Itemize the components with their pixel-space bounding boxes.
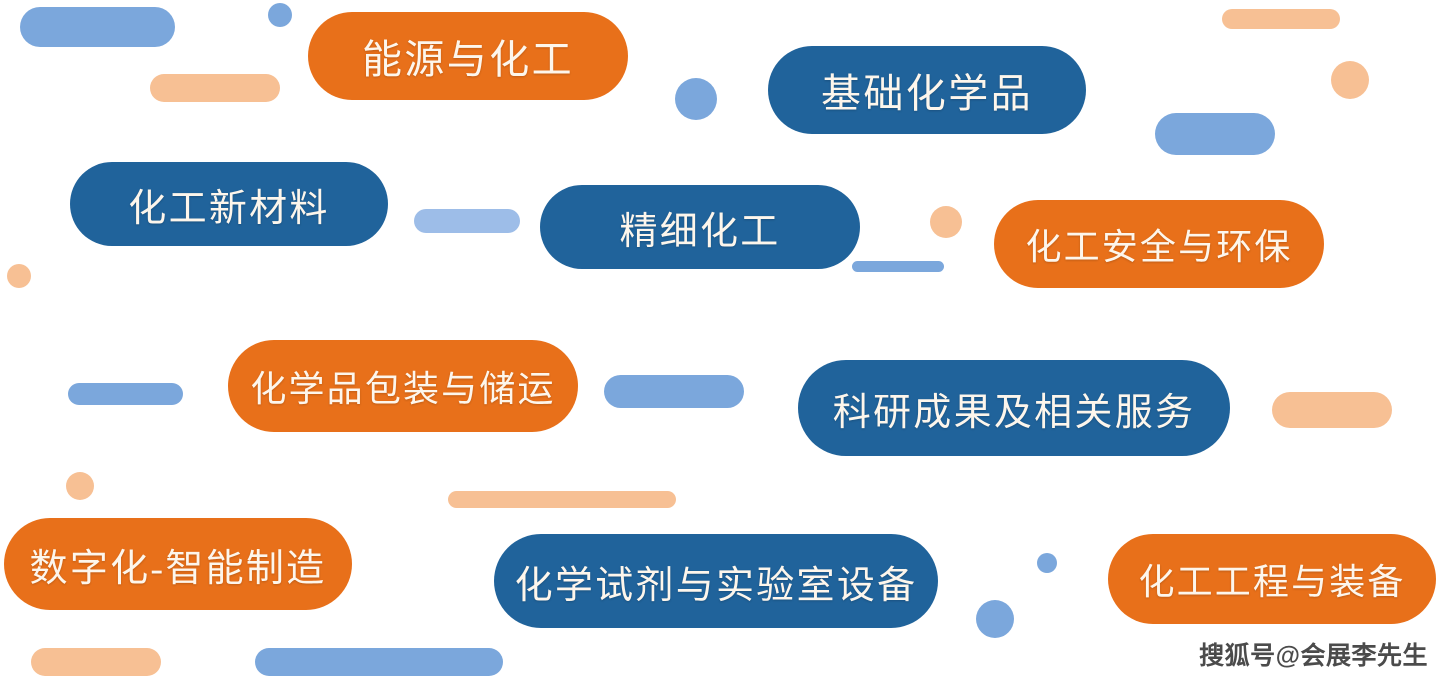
category-pill[interactable]: 数字化-智能制造	[4, 518, 352, 610]
category-pill[interactable]: 化工工程与装备	[1108, 534, 1436, 624]
category-pill-label: 科研成果及相关服务	[833, 381, 1196, 436]
category-pill[interactable]: 精细化工	[540, 185, 860, 269]
dot-top-center-blue	[268, 3, 292, 27]
pill-center-blue	[604, 375, 744, 408]
category-pill-label: 基础化学品	[821, 61, 1033, 119]
category-pill[interactable]: 化工安全与环保	[994, 200, 1324, 288]
dot-lower-mid-blue	[1037, 553, 1057, 573]
watermark-label: 搜狐号@会展李先生	[1199, 636, 1428, 672]
category-pill[interactable]: 化学品包装与储运	[228, 340, 578, 432]
category-pill[interactable]: 化学试剂与实验室设备	[494, 534, 938, 628]
pill-top-right-orange	[1222, 9, 1340, 29]
poster-canvas: 能源与化工基础化学品化工新材料精细化工化工安全与环保化学品包装与储运科研成果及相…	[0, 0, 1438, 678]
pill-right-blue	[1155, 113, 1275, 155]
category-pill[interactable]: 科研成果及相关服务	[798, 360, 1230, 456]
dot-lower-blue-large	[976, 600, 1014, 638]
dot-lower-left-orange	[66, 472, 94, 500]
category-pill[interactable]: 基础化学品	[768, 46, 1086, 134]
dot-upper-mid-blue	[675, 78, 717, 120]
category-pill-label: 化工安全与环保	[1025, 218, 1292, 270]
category-pill-label: 化工工程与装备	[1138, 553, 1405, 605]
category-pill-label: 化学试剂与实验室设备	[515, 554, 918, 609]
lens-mid-blue	[852, 261, 944, 272]
pill-top-left-blue	[20, 7, 175, 47]
category-pill-label: 化学品包装与储运	[250, 360, 555, 412]
lens-lower-orange	[448, 491, 676, 508]
category-pill-label: 数字化-智能制造	[30, 537, 327, 592]
category-pill-label: 化工新材料	[128, 177, 329, 232]
dot-mid-orange	[930, 206, 962, 238]
dot-left-orange	[7, 264, 31, 288]
pill-mid-left-paleblue	[414, 209, 520, 233]
category-pill-label: 能源与化工	[362, 27, 574, 85]
pill-bottom-left-orange	[31, 648, 161, 676]
pill-top-left-orange	[150, 74, 280, 102]
pill-left-mid-blue	[68, 383, 183, 405]
dot-top-right-orange	[1331, 61, 1369, 99]
pill-bottom-mid-blue	[255, 648, 503, 676]
category-pill-label: 精细化工	[619, 200, 780, 255]
category-pill[interactable]: 化工新材料	[70, 162, 388, 246]
pill-right-mid-orange	[1272, 392, 1392, 428]
category-pill[interactable]: 能源与化工	[308, 12, 628, 100]
